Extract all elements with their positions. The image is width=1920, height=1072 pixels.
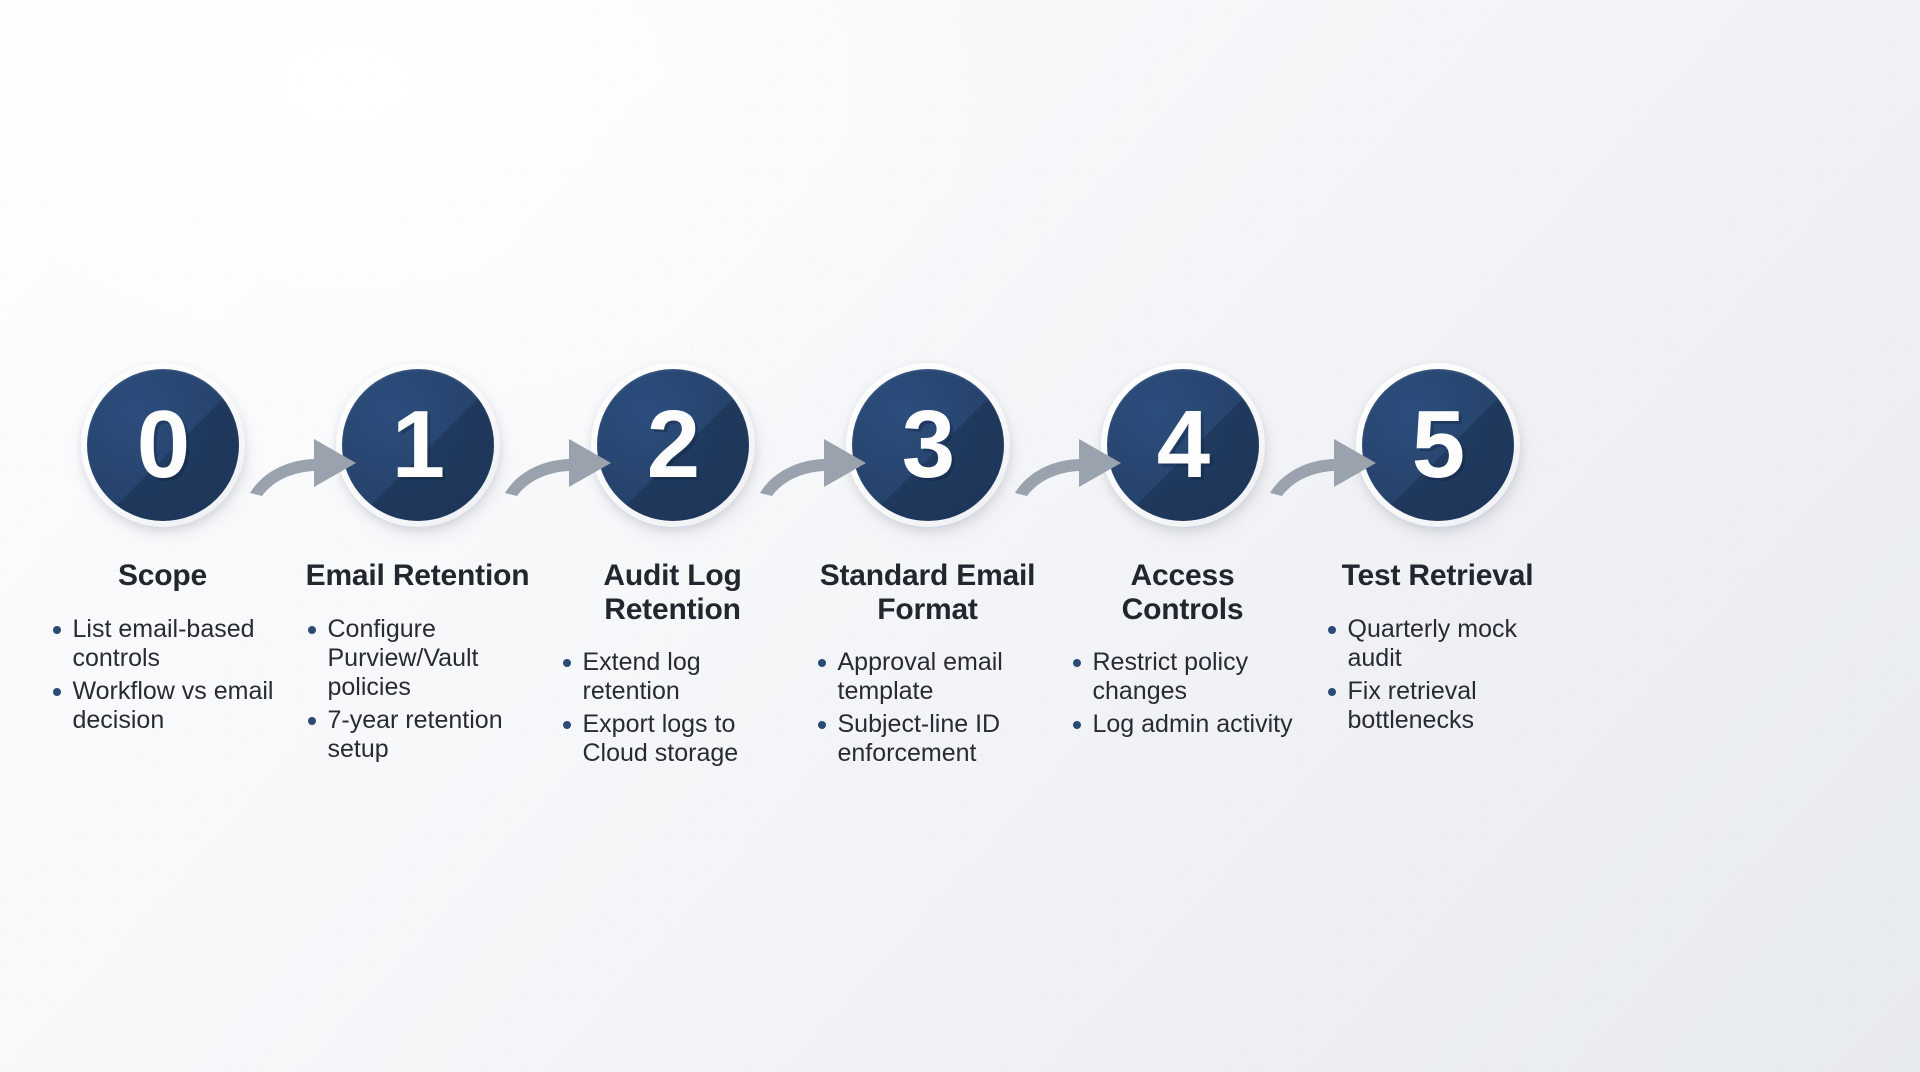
step-3[interactable]: 3Standard Email FormatApproval email tem… xyxy=(800,355,1055,772)
bullet-text: Export logs to Cloud storage xyxy=(583,710,739,767)
bullet-item: List email-based controls xyxy=(49,615,277,673)
bullet-dot-icon xyxy=(1073,721,1081,729)
bullet-dot-icon xyxy=(308,626,316,634)
step-5[interactable]: 5Test RetrievalQuarterly mock auditFix r… xyxy=(1310,355,1565,739)
bullet-text: Log admin activity xyxy=(1093,710,1293,738)
step-bullet-list: Quarterly mock auditFix retrieval bottle… xyxy=(1324,615,1552,739)
step-badge-wrapper: 4 xyxy=(1093,355,1273,535)
step-number-badge[interactable]: 5 xyxy=(1362,369,1514,521)
bullet-item: Extend log retention xyxy=(559,648,787,706)
step-badge-wrapper: 1 xyxy=(328,355,508,535)
bullet-item: Restrict policy changes xyxy=(1069,648,1297,706)
bullet-item: Workflow vs email decision xyxy=(49,677,277,735)
steps-row: 0ScopeList email-based controlsWorkflow … xyxy=(35,355,1885,772)
step-bullet-list: Restrict policy changesLog admin activit… xyxy=(1069,648,1297,743)
step-number-label: 0 xyxy=(137,397,188,493)
bullet-item: Log admin activity xyxy=(1069,710,1297,739)
bullet-item: Configure Purview/Vault policies xyxy=(304,615,532,702)
bullet-text: 7-year retention setup xyxy=(328,706,503,763)
step-number-badge[interactable]: 0 xyxy=(87,369,239,521)
step-4[interactable]: 4Access ControlsRestrict policy changesL… xyxy=(1055,355,1310,743)
step-bullet-list: Extend log retentionExport logs to Cloud… xyxy=(559,648,787,772)
bullet-item: Export logs to Cloud storage xyxy=(559,710,787,768)
step-bullet-list: Approval email templateSubject-line ID e… xyxy=(814,648,1042,772)
step-bullet-list: Configure Purview/Vault policies7-year r… xyxy=(304,615,532,768)
bullet-item: 7-year retention setup xyxy=(304,706,532,764)
step-title: Scope xyxy=(48,559,278,593)
step-title: Standard Email Format xyxy=(813,559,1043,626)
bullet-dot-icon xyxy=(1328,626,1336,634)
step-badge-wrapper: 5 xyxy=(1348,355,1528,535)
bullet-dot-icon xyxy=(818,659,826,667)
bullet-item: Fix retrieval bottlenecks xyxy=(1324,677,1552,735)
bullet-text: Restrict policy changes xyxy=(1093,648,1249,705)
bullet-dot-icon xyxy=(563,721,571,729)
bullet-dot-icon xyxy=(563,659,571,667)
step-title: Audit Log Retention xyxy=(558,559,788,626)
bullet-dot-icon xyxy=(53,688,61,696)
step-badge-wrapper: 3 xyxy=(838,355,1018,535)
bullet-text: Extend log retention xyxy=(583,648,701,705)
bullet-dot-icon xyxy=(1328,688,1336,696)
bullet-dot-icon xyxy=(308,717,316,725)
step-number-label: 1 xyxy=(392,397,443,493)
step-title: Access Controls xyxy=(1068,559,1298,626)
bullet-dot-icon xyxy=(1073,659,1081,667)
step-badge-wrapper: 0 xyxy=(73,355,253,535)
step-number-label: 4 xyxy=(1157,397,1208,493)
step-number-badge[interactable]: 1 xyxy=(342,369,494,521)
bullet-dot-icon xyxy=(53,626,61,634)
step-number-badge[interactable]: 3 xyxy=(852,369,1004,521)
step-number-label: 2 xyxy=(647,397,698,493)
bullet-dot-icon xyxy=(818,721,826,729)
bullet-text: Approval email template xyxy=(838,648,1003,705)
step-number-label: 3 xyxy=(902,397,953,493)
step-title: Email Retention xyxy=(303,559,533,593)
bullet-text: Fix retrieval bottlenecks xyxy=(1348,677,1477,734)
bullet-item: Approval email template xyxy=(814,648,1042,706)
step-title: Test Retrieval xyxy=(1323,559,1553,593)
step-bullet-list: List email-based controlsWorkflow vs ema… xyxy=(49,615,277,739)
bullet-item: Subject-line ID enforcement xyxy=(814,710,1042,768)
bullet-text: Workflow vs email decision xyxy=(73,677,274,734)
bullet-text: Subject-line ID enforcement xyxy=(838,710,1001,767)
bullet-text: Configure Purview/Vault policies xyxy=(328,615,479,701)
step-0[interactable]: 0ScopeList email-based controlsWorkflow … xyxy=(35,355,290,739)
bullet-text: Quarterly mock audit xyxy=(1348,615,1517,672)
step-number-label: 5 xyxy=(1412,397,1463,493)
bullet-item: Quarterly mock audit xyxy=(1324,615,1552,673)
step-number-badge[interactable]: 2 xyxy=(597,369,749,521)
step-2[interactable]: 2Audit Log RetentionExtend log retention… xyxy=(545,355,800,772)
step-number-badge[interactable]: 4 xyxy=(1107,369,1259,521)
bullet-text: List email-based controls xyxy=(73,615,255,672)
process-flow-infographic: 0ScopeList email-based controlsWorkflow … xyxy=(0,0,1920,1072)
step-1[interactable]: 1Email RetentionConfigure Purview/Vault … xyxy=(290,355,545,768)
step-badge-wrapper: 2 xyxy=(583,355,763,535)
